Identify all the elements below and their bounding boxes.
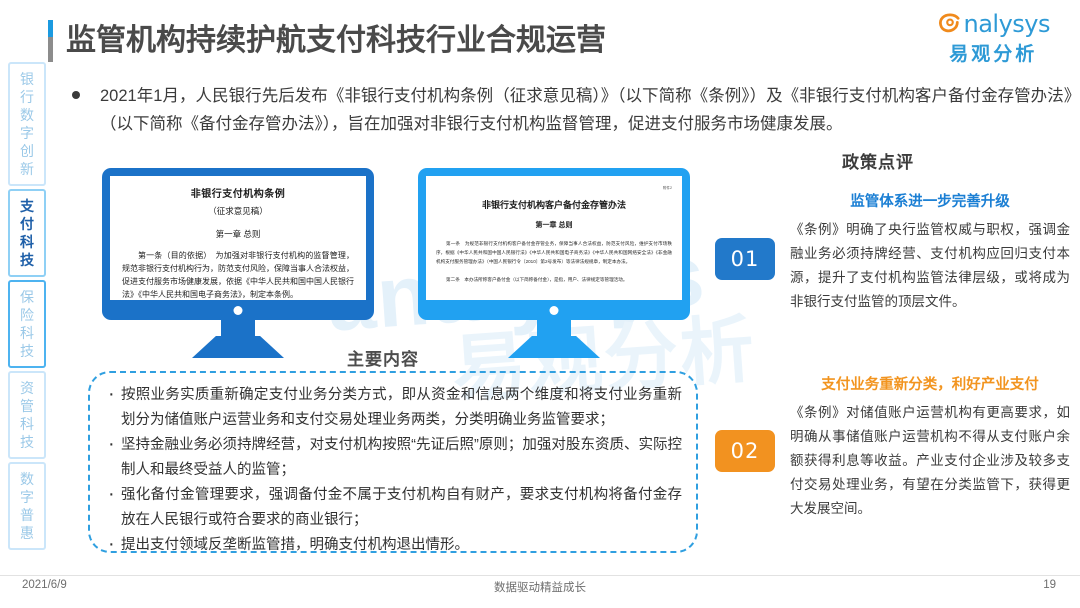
list-item: 提出支付领域反垄断监管措，明确支付机构退出情形。 [106, 533, 682, 558]
sidebar-char: 数 [10, 470, 44, 488]
sidebar-char: 技 [10, 342, 44, 360]
sidebar-item-支付科技[interactable]: 支 付 科 技 [8, 189, 46, 277]
main-content-list: 按照业务实质重新确定支付业务分类方式，即从资金和信息两个维度和将支付业务重新划分… [106, 383, 682, 558]
footer-divider [0, 575, 1080, 576]
monitor-right: 附件2 非银行支付机构客户备付金存管办法 第一章 总则 第一条 为规范非银行支付… [418, 168, 690, 358]
title-accent-bar [48, 20, 53, 62]
sidebar-char: 科 [10, 324, 44, 342]
sidebar-char: 字 [10, 124, 44, 142]
sidebar-item-保险科技[interactable]: 保 险 科 技 [8, 280, 46, 368]
title-text: 监管机构持续护航支付科技行业合规运营 [66, 20, 606, 62]
monitor-left-power-dot-icon [234, 306, 243, 315]
intro-text: 2021年1月，人民银行先后发布《非银行支付机构条例（征求意见稿）》（以下简称《… [100, 82, 1072, 138]
doc-right-title: 非银行支付机构客户备付金存管办法 [436, 198, 672, 211]
sidebar-item-资管科技[interactable]: 资 管 科 技 [8, 371, 46, 459]
monitor-right-body: 附件2 非银行支付机构客户备付金存管办法 第一章 总则 第一条 为规范非银行支付… [418, 168, 690, 320]
document-right: 附件2 非银行支付机构客户备付金存管办法 第一章 总则 第一条 为规范非银行支付… [426, 176, 682, 288]
sidebar-char: 创 [10, 142, 44, 160]
sidebar-char: 技 [10, 433, 44, 451]
monitor-left: 非银行支付机构条例 （征求意见稿） 第一章 总则 第一条（目的依据） 为加强对非… [102, 168, 374, 358]
sidebar-char: 字 [10, 488, 44, 506]
doc-left-title: 非银行支付机构条例 [122, 185, 354, 200]
main-content-heading: 主要内容 [347, 345, 419, 370]
doc-right-meta: 附件2 [436, 186, 672, 191]
sidebar-char: 保 [10, 288, 44, 306]
policy-review-block-2: 支付业务重新分类，利好产业支付 《条例》对储值账户运营机构有更高要求，如明确从事… [790, 373, 1070, 521]
badge-01: 01 [715, 238, 775, 280]
sidebar-char: 支 [10, 197, 44, 215]
monitor-right-screen: 附件2 非银行支付机构客户备付金存管办法 第一章 总则 第一条 为规范非银行支付… [426, 176, 682, 300]
main-content-box: 按照业务实质重新确定支付业务分类方式，即从资金和信息两个维度和将支付业务重新划分… [88, 371, 698, 553]
slide-canvas: analysys 易观分析 nalysys 易观分析 监管机构持续护航支付科技行… [0, 0, 1080, 608]
intro-paragraph: 2021年1月，人民银行先后发布《非银行支付机构条例（征求意见稿）》（以下简称《… [72, 82, 1072, 138]
sidebar-item-数字普惠[interactable]: 数 字 普 惠 [8, 462, 46, 550]
monitor-left-neck [221, 320, 255, 336]
policy-review-body-1: 《条例》明确了央行监管权威与职权，强调金融业务必须持牌经营、支付机构应回归支付本… [790, 218, 1070, 314]
footer-page-number: 19 [1043, 579, 1056, 591]
brand-logo: nalysys 易观分析 [937, 10, 1051, 66]
document-left: 非银行支付机构条例 （征求意见稿） 第一章 总则 第一条（目的依据） 为加强对非… [110, 176, 366, 300]
monitor-left-body: 非银行支付机构条例 （征求意见稿） 第一章 总则 第一条（目的依据） 为加强对非… [102, 168, 374, 320]
sidebar-item-银行数字创新[interactable]: 银 行 数 字 创 新 [8, 62, 46, 186]
monitor-right-stand [418, 320, 690, 358]
sidebar-char: 惠 [10, 524, 44, 542]
sidebar-char: 银 [10, 70, 44, 88]
sidebar-char: 资 [10, 379, 44, 397]
monitor-right-power-dot-icon [550, 306, 559, 315]
list-item: 强化备付金管理要求，强调备付金不属于支付机构自有财产，要求支付机构将备付金存放在… [106, 483, 682, 533]
sidebar-char: 付 [10, 215, 44, 233]
sidebar-char: 行 [10, 88, 44, 106]
analysys-mark-icon [937, 11, 963, 37]
monitor-left-screen: 非银行支付机构条例 （征求意见稿） 第一章 总则 第一条（目的依据） 为加强对非… [110, 176, 366, 300]
doc-left-subtitle: （征求意见稿） [122, 205, 354, 217]
sidebar-char: 普 [10, 506, 44, 524]
sidebar-char: 技 [10, 251, 44, 269]
doc-right-chapter: 第一章 总则 [436, 220, 672, 230]
list-item: 坚持金融业务必须持牌经营，对支付机构按照“先证后照”原则；加强对股东资质、实际控… [106, 433, 682, 483]
doc-right-body2: 第二条 本办法所称客户备付金（以下简称备付金），是指，用户、法律规定等管理活动。 [436, 275, 672, 284]
doc-right-body1: 第一条 为规范非银行支付机构客户备付金存管业务，保障当事人合法权益，防范支付风险… [436, 239, 672, 266]
footer-tagline: 数据驱动精益成长 [0, 579, 1080, 595]
logo-wordmark: nalysys [964, 10, 1051, 38]
monitor-right-neck [537, 320, 571, 336]
doc-left-body: 第一条（目的依据） 为加强对非银行支付机构的监督管理，规范非银行支付机构行为，防… [122, 249, 354, 300]
sidebar-char: 科 [10, 233, 44, 251]
doc-left-chapter: 第一章 总则 [122, 228, 354, 240]
policy-review-title-1: 监管体系进一步完善升级 [790, 190, 1070, 211]
policy-review-body-2: 《条例》对储值账户运营机构有更高要求，如明确从事储值账户运营机构不得从支付账户余… [790, 401, 1070, 521]
monitor-left-foot [192, 336, 284, 358]
bullet-dot-icon [72, 91, 80, 99]
policy-review-block-1: 监管体系进一步完善升级 《条例》明确了央行监管权威与职权，强调金融业务必须持牌经… [790, 190, 1070, 314]
policy-review-title-2: 支付业务重新分类，利好产业支付 [790, 373, 1070, 394]
sidebar-char: 科 [10, 415, 44, 433]
badge-02: 02 [715, 430, 775, 472]
sidebar-char: 险 [10, 306, 44, 324]
sidebar-char: 新 [10, 160, 44, 178]
sidebar-nav: 银 行 数 字 创 新 支 付 科 技 保 险 科 技 资 管 科 技 数 字 [8, 62, 46, 553]
logo-chinese: 易观分析 [937, 39, 1051, 66]
monitor-left-stand [102, 320, 374, 358]
page-title: 监管机构持续护航支付科技行业合规运营 [48, 20, 606, 62]
list-item: 按照业务实质重新确定支付业务分类方式，即从资金和信息两个维度和将支付业务重新划分… [106, 383, 682, 433]
monitor-right-foot [508, 336, 600, 358]
sidebar-char: 数 [10, 106, 44, 124]
policy-review-heading: 政策点评 [842, 148, 914, 173]
sidebar-char: 管 [10, 397, 44, 415]
